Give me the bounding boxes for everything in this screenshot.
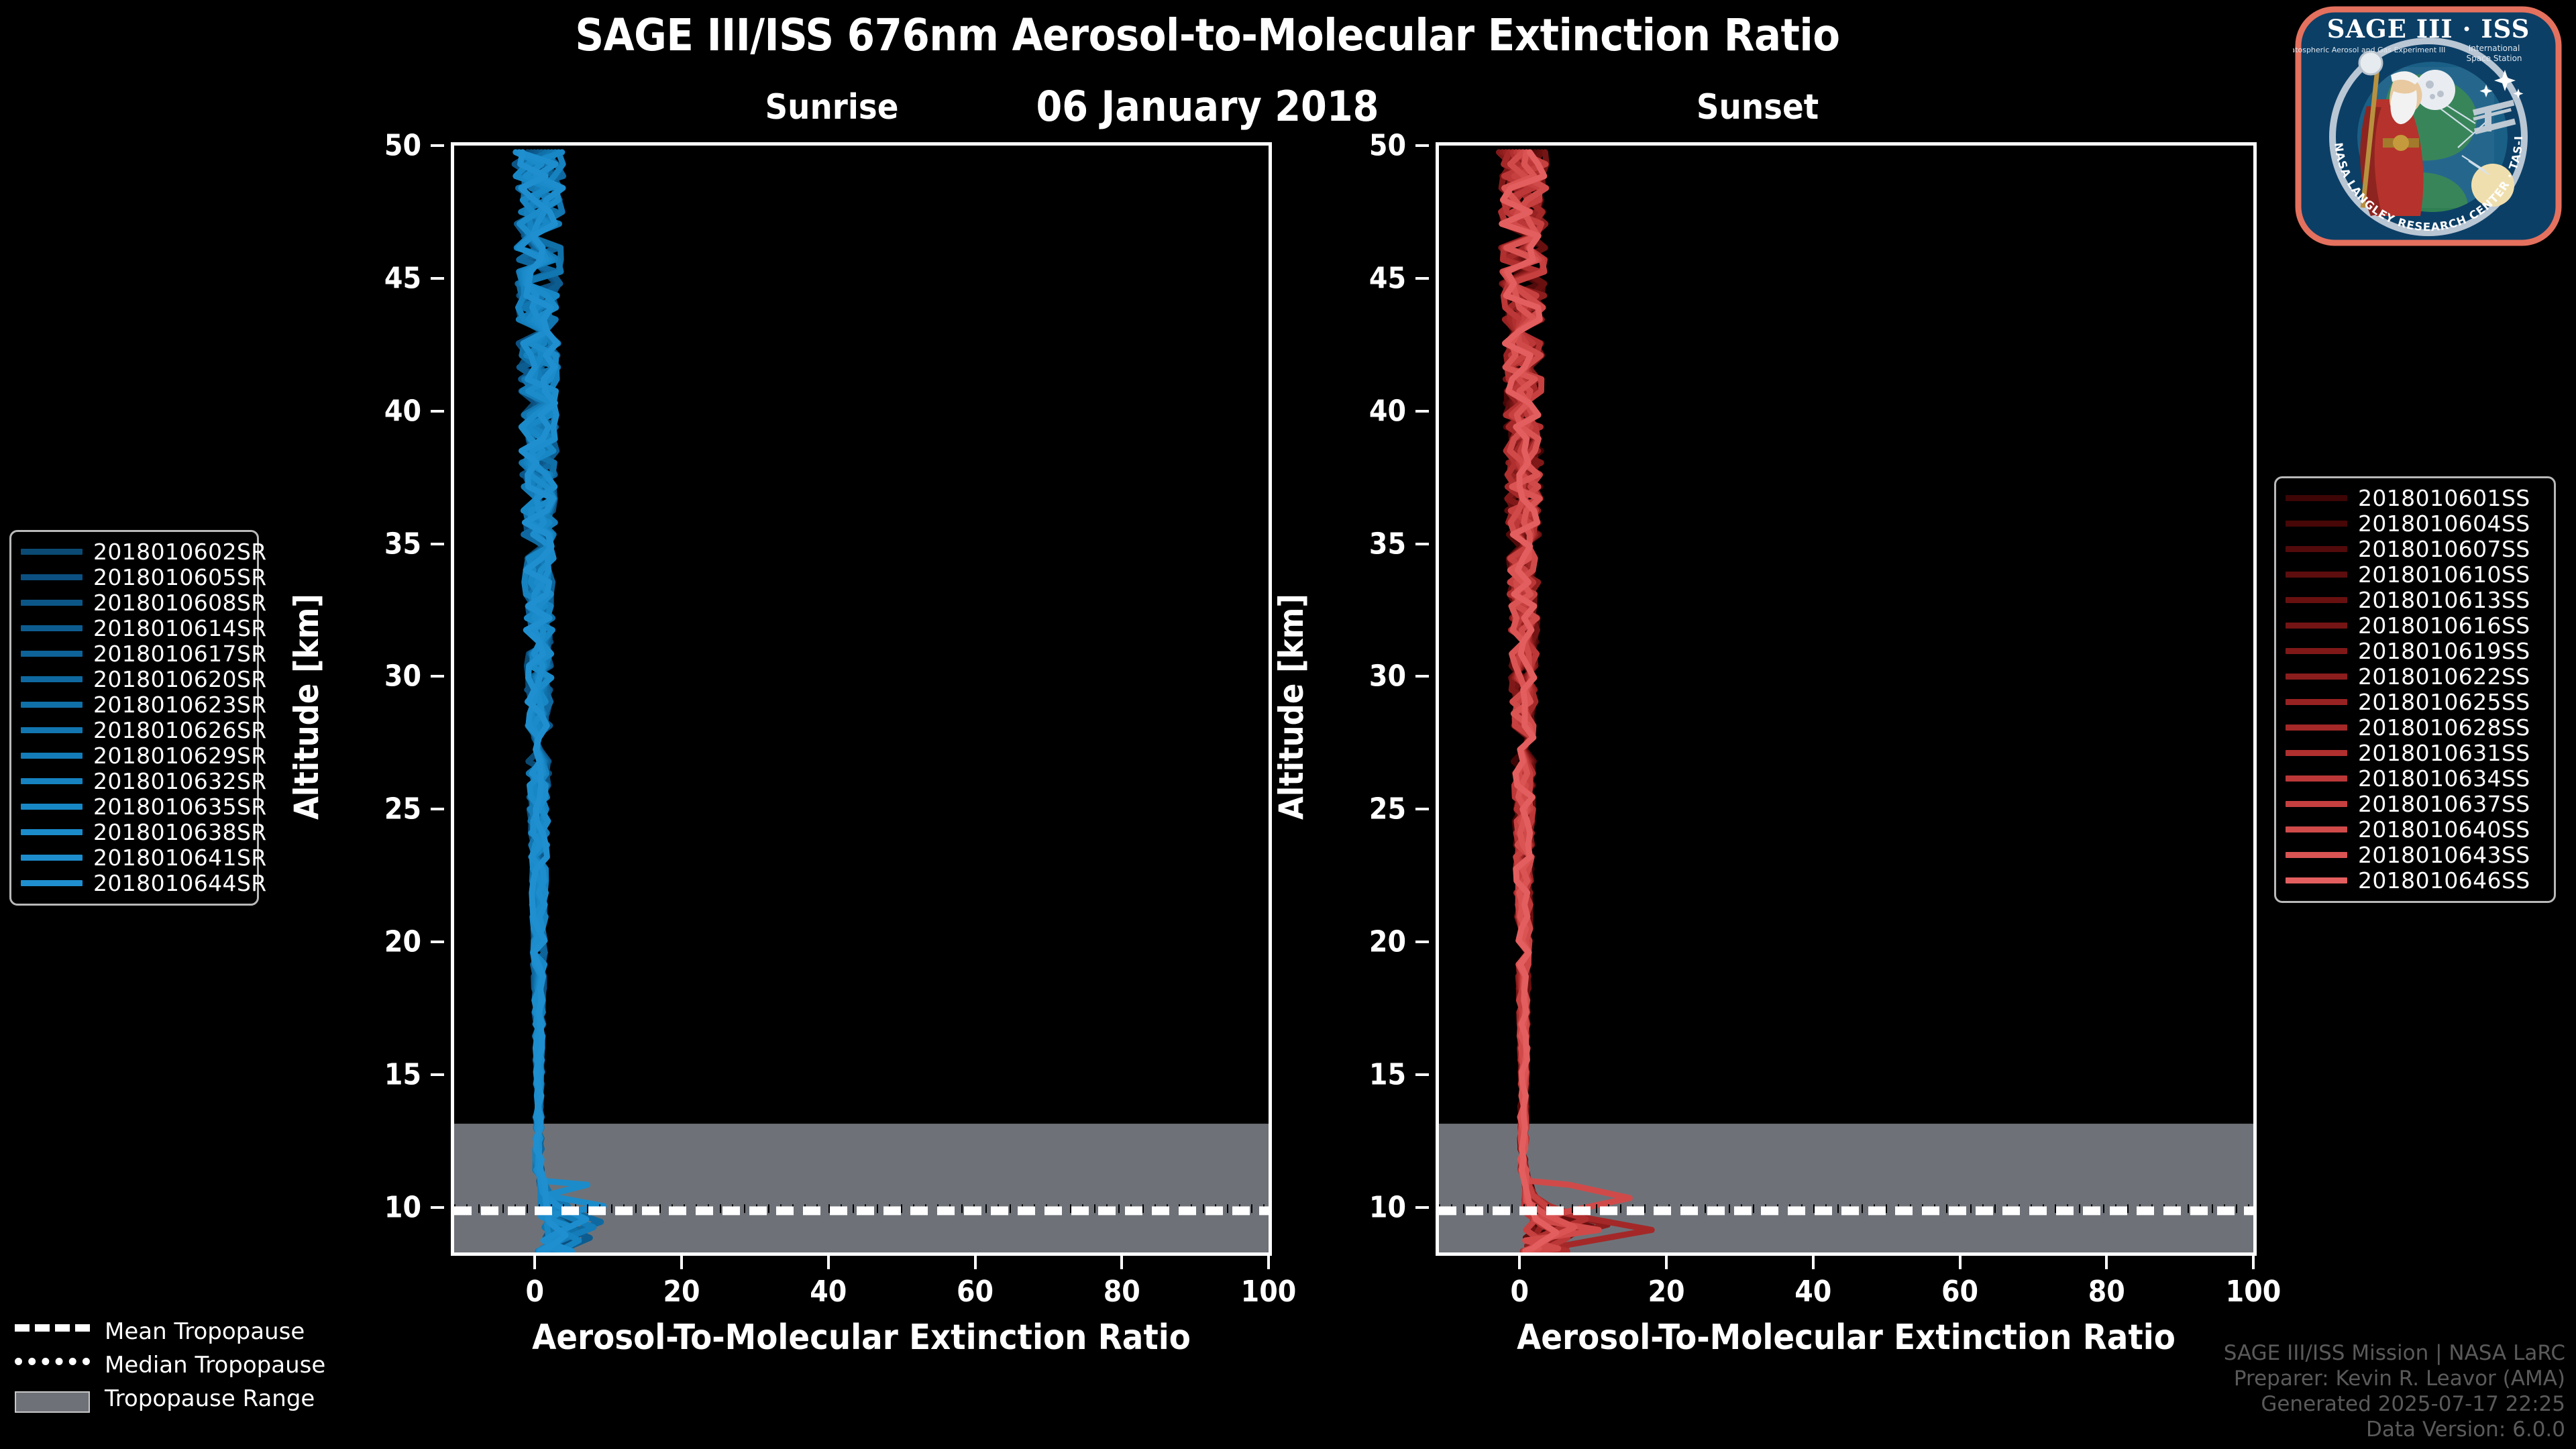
legend-color-swatch: [21, 600, 83, 606]
profile-lines-sunset: [1439, 146, 2253, 1252]
legend-sunset-item[interactable]: 2018010610SS: [2286, 561, 2542, 587]
y-tick-mark: [1415, 410, 1429, 413]
legend-sunset[interactable]: 2018010601SS2018010604SS2018010607SS2018…: [2274, 476, 2556, 903]
legend-color-swatch: [2286, 597, 2347, 603]
x-tick-label: 20: [663, 1275, 700, 1309]
legend-color-swatch: [2286, 852, 2347, 858]
legend-sunrise-item[interactable]: 2018010629SR: [21, 743, 245, 768]
legend-sunrise-item[interactable]: 2018010602SR: [21, 539, 245, 564]
legend-color-swatch: [21, 753, 83, 759]
legend-sunrise-item[interactable]: 2018010617SR: [21, 641, 245, 666]
legend-color-swatch: [2286, 826, 2347, 833]
y-tick-label: 10: [1369, 1190, 1406, 1224]
y-tick-mark: [431, 144, 444, 147]
y-tick-label: 20: [1369, 925, 1406, 959]
legend-color-swatch: [2286, 877, 2347, 883]
plot-canvas-sunset: [1439, 146, 2253, 1252]
panel-title-sunrise: Sunrise: [671, 87, 993, 127]
legend-color-swatch: [21, 549, 83, 555]
legend-sunrise-item[interactable]: 2018010608SR: [21, 590, 245, 615]
legend-sunset-item[interactable]: 2018010619SS: [2286, 638, 2542, 663]
legend-label: 2018010601SS: [2358, 485, 2530, 511]
x-tick-mark: [2105, 1256, 2108, 1269]
legend-sunset-item[interactable]: 2018010625SS: [2286, 689, 2542, 714]
y-tick-label: 25: [384, 792, 421, 826]
legend-label: 2018010616SS: [2358, 612, 2530, 639]
legend-label: 2018010620SR: [93, 666, 267, 692]
legend-sunrise-item[interactable]: 2018010626SR: [21, 717, 245, 743]
legend-color-swatch: [2286, 495, 2347, 501]
page-title: SAGE III/ISS 676nm Aerosol-to-Molecular …: [0, 9, 2415, 61]
plot-area-sunrise[interactable]: [451, 142, 1272, 1256]
x-tick-mark: [1518, 1256, 1521, 1269]
legend-tropopause[interactable]: Mean Tropopause Median Tropopause Tropop…: [15, 1315, 364, 1415]
x-tick-label: 80: [2088, 1275, 2125, 1309]
credit-line-mission: SAGE III/ISS Mission | NASA LaRC: [2224, 1340, 2565, 1366]
dashed-line-icon: [15, 1324, 90, 1339]
x-axis-sunset: 020406080100Aerosol-To-Molecular Extinct…: [1436, 1256, 2257, 1370]
y-tick-mark: [431, 675, 444, 678]
legend-color-swatch: [21, 778, 83, 784]
y-tick-label: 35: [1369, 527, 1406, 561]
legend-sunset-item[interactable]: 2018010628SS: [2286, 714, 2542, 740]
y-tick-mark: [1415, 144, 1429, 147]
credit-line-preparer: Preparer: Kevin R. Leavor (AMA): [2224, 1366, 2565, 1391]
y-tick-label: 25: [1369, 792, 1406, 826]
y-tick-mark: [1415, 1073, 1429, 1076]
legend-label: 2018010641SR: [93, 845, 267, 871]
y-tick-mark: [1415, 941, 1429, 943]
y-axis-sunrise: 101520253035404550Altitude [km]: [297, 142, 444, 1256]
x-tick-label: 100: [2226, 1275, 2282, 1309]
legend-color-swatch: [2286, 623, 2347, 629]
legend-sunset-item[interactable]: 2018010634SS: [2286, 765, 2542, 791]
x-tick-label: 60: [957, 1275, 994, 1309]
x-tick-mark: [827, 1256, 830, 1269]
legend-color-swatch: [21, 804, 83, 810]
legend-label: 2018010644SR: [93, 870, 267, 896]
patch-subtitle-right-1: International: [2469, 44, 2520, 53]
legend-label: 2018010619SS: [2358, 638, 2530, 664]
y-tick-label: 40: [1369, 394, 1406, 428]
legend-sunrise-item[interactable]: 2018010635SR: [21, 794, 245, 819]
y-tick-mark: [431, 277, 444, 280]
legend-label: 2018010632SR: [93, 768, 267, 794]
y-tick-label: 15: [384, 1057, 421, 1091]
y-tick-label: 35: [384, 527, 421, 561]
legend-label: 2018010607SS: [2358, 536, 2530, 562]
legend-sunrise-item[interactable]: 2018010623SR: [21, 692, 245, 717]
credit-line-generated: Generated 2025-07-17 22:25: [2224, 1391, 2565, 1417]
patch-title: SAGE III · ISS: [2327, 14, 2530, 44]
panel-title-sunset: Sunset: [1597, 87, 1919, 127]
x-tick-mark: [1120, 1256, 1123, 1269]
y-tick-mark: [431, 808, 444, 810]
legend-item-median-tropopause[interactable]: Median Tropopause: [15, 1348, 364, 1382]
x-tick-label: 0: [1511, 1275, 1529, 1309]
legend-color-swatch: [21, 702, 83, 708]
patch-subtitle-left: Stratospheric Aerosol and Gas Experiment…: [2293, 46, 2445, 54]
legend-color-swatch: [2286, 674, 2347, 680]
x-tick-mark: [680, 1256, 683, 1269]
legend-label: 2018010605SR: [93, 564, 267, 590]
legend-color-swatch: [2286, 521, 2347, 527]
y-tick-mark: [1415, 808, 1429, 810]
y-tick-mark: [431, 1206, 444, 1209]
y-tick-label: 30: [384, 659, 421, 694]
y-tick-mark: [1415, 543, 1429, 545]
plot-canvas-sunrise: [454, 146, 1269, 1252]
legend-label: 2018010614SR: [93, 615, 267, 641]
legend-label: 2018010628SS: [2358, 714, 2530, 741]
legend-label: 2018010608SR: [93, 590, 267, 616]
legend-sunrise-item[interactable]: 2018010638SR: [21, 819, 245, 845]
legend-label: 2018010638SR: [93, 819, 267, 845]
y-tick-mark: [1415, 675, 1429, 678]
y-tick-label: 50: [1369, 129, 1406, 163]
legend-color-swatch: [2286, 572, 2347, 578]
plot-area-sunset[interactable]: [1436, 142, 2257, 1256]
legend-sunrise-item[interactable]: 2018010641SR: [21, 845, 245, 870]
legend-color-swatch: [21, 829, 83, 835]
legend-label: 2018010643SS: [2358, 842, 2530, 868]
legend-label-tropopause-range: Tropopause Range: [105, 1385, 315, 1412]
legend-sunrise-item[interactable]: 2018010632SR: [21, 768, 245, 794]
legend-color-swatch: [2286, 775, 2347, 782]
legend-color-swatch: [21, 855, 83, 861]
y-tick-label: 45: [384, 261, 421, 295]
legend-label: 2018010613SS: [2358, 587, 2530, 613]
legend-sunset-item[interactable]: 2018010637SS: [2286, 791, 2542, 816]
legend-label: 2018010610SS: [2358, 561, 2530, 588]
legend-color-swatch: [21, 727, 83, 733]
legend-color-swatch: [21, 676, 83, 682]
legend-label: 2018010602SR: [93, 539, 267, 565]
gray-patch-icon: [15, 1391, 90, 1406]
y-tick-label: 15: [1369, 1057, 1406, 1091]
legend-sunset-item[interactable]: 2018010622SS: [2286, 663, 2542, 689]
legend-label-median-tropopause: Median Tropopause: [105, 1352, 325, 1379]
legend-sunset-item[interactable]: 2018010601SS: [2286, 485, 2542, 511]
y-tick-mark: [431, 941, 444, 943]
legend-sunrise-item[interactable]: 2018010644SR: [21, 870, 245, 896]
x-tick-label: 20: [1648, 1275, 1684, 1309]
legend-item-mean-tropopause[interactable]: Mean Tropopause: [15, 1315, 364, 1348]
sage-iii-iss-mission-patch-logo: SAGE III · ISS Stratospheric Aerosol and…: [2293, 5, 2564, 247]
mission-patch-svg: SAGE III · ISS Stratospheric Aerosol and…: [2293, 5, 2564, 247]
legend-sunset-item[interactable]: 2018010604SS: [2286, 511, 2542, 536]
y-tick-label: 20: [384, 925, 421, 959]
y-tick-mark: [1415, 277, 1429, 280]
y-axis-title-sunrise: Altitude [km]: [287, 594, 326, 820]
x-tick-label: 40: [810, 1275, 847, 1309]
legend-sunset-item[interactable]: 2018010643SS: [2286, 842, 2542, 867]
y-tick-mark: [431, 543, 444, 545]
x-tick-label: 60: [1941, 1275, 1978, 1309]
legend-label: 2018010604SS: [2358, 511, 2530, 537]
x-tick-mark: [2252, 1256, 2255, 1269]
legend-sunset-item[interactable]: 2018010616SS: [2286, 612, 2542, 638]
x-tick-label: 80: [1104, 1275, 1140, 1309]
legend-label: 2018010646SS: [2358, 867, 2530, 894]
x-tick-mark: [533, 1256, 536, 1269]
x-tick-mark: [1812, 1256, 1815, 1269]
legend-label: 2018010629SR: [93, 743, 267, 769]
y-tick-label: 50: [384, 129, 421, 163]
x-tick-label: 40: [1794, 1275, 1831, 1309]
credit-line-data-version: Data Version: 6.0.0: [2224, 1417, 2565, 1442]
x-tick-label: 100: [1241, 1275, 1297, 1309]
legend-sunset-item[interactable]: 2018010640SS: [2286, 816, 2542, 842]
patch-subtitle-right-2: Space Station: [2466, 54, 2522, 63]
legend-label: 2018010635SR: [93, 794, 267, 820]
x-tick-mark: [1665, 1256, 1668, 1269]
x-axis-sunrise: 020406080100Aerosol-To-Molecular Extinct…: [451, 1256, 1272, 1370]
y-tick-label: 40: [384, 394, 421, 428]
credits-block: SAGE III/ISS Mission | NASA LaRC Prepare…: [2224, 1340, 2565, 1442]
y-tick-mark: [1415, 1206, 1429, 1209]
legend-sunset-item[interactable]: 2018010607SS: [2286, 536, 2542, 561]
profile-lines-sunrise: [454, 146, 1269, 1252]
legend-color-swatch: [2286, 801, 2347, 807]
legend-label: 2018010640SS: [2358, 816, 2530, 843]
legend-sunrise[interactable]: 2018010602SR2018010605SR2018010608SR2018…: [9, 530, 259, 906]
legend-label: 2018010631SS: [2358, 740, 2530, 766]
legend-color-swatch: [2286, 724, 2347, 731]
dotted-line-icon: [15, 1358, 90, 1373]
legend-label: 2018010625SS: [2358, 689, 2530, 715]
legend-sunrise-item[interactable]: 2018010620SR: [21, 666, 245, 692]
y-tick-label: 10: [384, 1190, 421, 1224]
x-tick-mark: [1959, 1256, 1962, 1269]
legend-sunrise-item[interactable]: 2018010614SR: [21, 615, 245, 641]
y-axis-sunset: 101520253035404550Altitude [km]: [1281, 142, 1429, 1256]
legend-label: 2018010637SS: [2358, 791, 2530, 817]
legend-color-swatch: [21, 651, 83, 657]
legend-color-swatch: [21, 625, 83, 631]
x-axis-title-sunrise: Aerosol-To-Molecular Extinction Ratio: [451, 1318, 1272, 1358]
x-axis-title-sunset: Aerosol-To-Molecular Extinction Ratio: [1436, 1318, 2257, 1358]
legend-sunset-item[interactable]: 2018010631SS: [2286, 740, 2542, 765]
legend-sunset-item[interactable]: 2018010613SS: [2286, 587, 2542, 612]
page-subtitle: 06 January 2018: [0, 82, 2415, 131]
legend-label: 2018010623SR: [93, 692, 267, 718]
y-axis-title-sunset: Altitude [km]: [1272, 594, 1311, 820]
legend-color-swatch: [21, 880, 83, 886]
legend-color-swatch: [2286, 699, 2347, 705]
legend-sunset-item[interactable]: 2018010646SS: [2286, 867, 2542, 893]
y-tick-mark: [431, 410, 444, 413]
y-tick-label: 30: [1369, 659, 1406, 694]
x-tick-mark: [1267, 1256, 1270, 1269]
legend-label: 2018010634SS: [2358, 765, 2530, 792]
legend-sunrise-item[interactable]: 2018010605SR: [21, 564, 245, 590]
legend-label: 2018010622SS: [2358, 663, 2530, 690]
legend-color-swatch: [2286, 750, 2347, 756]
legend-label: 2018010626SR: [93, 717, 267, 743]
legend-color-swatch: [2286, 546, 2347, 552]
legend-color-swatch: [2286, 648, 2347, 654]
x-tick-mark: [974, 1256, 977, 1269]
legend-label: 2018010617SR: [93, 641, 267, 667]
y-tick-mark: [431, 1073, 444, 1076]
legend-color-swatch: [21, 574, 83, 580]
legend-label-mean-tropopause: Mean Tropopause: [105, 1318, 305, 1345]
y-tick-label: 45: [1369, 261, 1406, 295]
legend-item-tropopause-range[interactable]: Tropopause Range: [15, 1382, 364, 1415]
x-tick-label: 0: [526, 1275, 545, 1309]
